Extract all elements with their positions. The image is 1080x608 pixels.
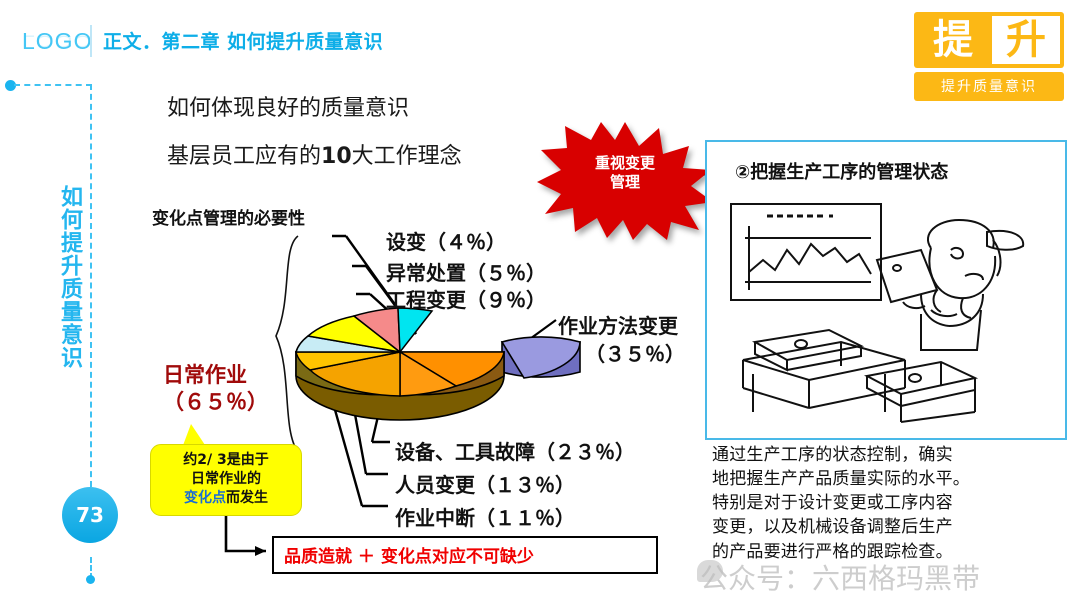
paragraph-line-4: 变更，以及机械设备调整后生产 — [712, 515, 1074, 539]
result-box: 品质造就 ＋ 变化点对应不可缺少 — [272, 536, 658, 574]
page-number-badge: 73 — [62, 487, 118, 543]
starburst-line-2: 管理 — [535, 173, 715, 192]
pie-label-yichangchuzhi: 异常处置（５％） — [386, 257, 546, 286]
pie-label-zuoyefangfa-pct: （３５％） — [585, 338, 685, 367]
badge-subtitle: 提升质量意识 — [914, 72, 1064, 101]
callout-line-3: 变化点而发生 — [157, 489, 295, 508]
heading-2-post: 大工作理念 — [352, 144, 462, 169]
slide-canvas: LOGO LOGO 正文．第二章 如何提升质量意识 提 升 提升质量意识 如何提… — [0, 0, 1080, 608]
rail-line-horizontal — [14, 84, 92, 86]
callout-highlight: 变化点 — [184, 490, 226, 506]
callout-line-1: 约2/ 3是由于 — [157, 451, 295, 470]
page-title: 正文．第二章 如何提升质量意识 — [103, 27, 383, 54]
paragraph-line-3: 特别是对于设计变更或工序内容 — [712, 491, 1074, 515]
pie-label-zuoyefangfa: 作业方法变更 — [558, 310, 678, 339]
badge-char-1: 提 — [914, 12, 992, 68]
heading-line-1: 如何体现良好的质量意识 — [167, 90, 409, 122]
right-panel: ②把握生产工序的管理状态 — [705, 140, 1067, 440]
pie-label-gongchengbiangeng: 工程变更（９％） — [386, 284, 546, 313]
sidebar-vertical-title: 如何提升质量意识 — [47, 185, 81, 369]
watermark-text: 公众号：六西格玛黑带 — [700, 557, 980, 597]
paragraph-line-1: 通过生产工序的状态控制，确实 — [712, 443, 1074, 467]
header-divider — [90, 25, 92, 57]
pie-group-label-line1: 日常作业 — [163, 362, 268, 389]
pie-label-zuoyezhongduan: 作业中断（１１％） — [395, 502, 575, 531]
pie-label-renyuanbiangeng: 人员变更（１３％） — [395, 469, 575, 498]
starburst-callout: 重视变更 管理 — [535, 120, 715, 242]
logo-reflection: LOGO — [22, 31, 92, 51]
chapter-badge: 提 升 提升质量意识 — [914, 12, 1064, 101]
heading-2-pre: 基层员工应有的 — [167, 144, 321, 169]
rail-line-vertical — [90, 84, 92, 487]
badge-top-row: 提 升 — [914, 12, 1064, 68]
pie-slice-作业方法变更 — [502, 337, 580, 378]
right-panel-paragraph: 通过生产工序的状态控制，确实 地把握生产产品质量实际的水平。 特别是对于设计变更… — [712, 443, 1074, 564]
starburst-line-1: 重视变更 — [535, 154, 715, 173]
rail-dot-bottom — [86, 575, 95, 584]
yellow-callout: 约2/ 3是由于 日常作业的 变化点而发生 — [150, 444, 302, 516]
pie-group-label: 日常作业 （６５％） — [163, 362, 268, 417]
callout-line-2: 日常作业的 — [157, 470, 295, 489]
badge-char-2: 升 — [992, 16, 1060, 64]
worker-illustration — [725, 198, 1053, 430]
pie-label-shebian: 设变（４％） — [386, 226, 506, 255]
callout-line-3-rest: 而发生 — [226, 490, 268, 506]
pie-label-shebeigongju: 设备、工具故障（２３％） — [395, 436, 635, 465]
paragraph-line-2: 地把握生产产品质量实际的水平。 — [712, 467, 1074, 491]
heading-2-number: 10 — [321, 144, 352, 169]
starburst-text: 重视变更 管理 — [535, 154, 715, 192]
heading-line-2: 基层员工应有的10大工作理念 — [167, 138, 462, 170]
right-panel-title: ②把握生产工序的管理状态 — [735, 158, 948, 184]
pie-group-label-line2: （６５％） — [163, 389, 268, 416]
chart-caption: 变化点管理的必要性 — [152, 204, 305, 229]
